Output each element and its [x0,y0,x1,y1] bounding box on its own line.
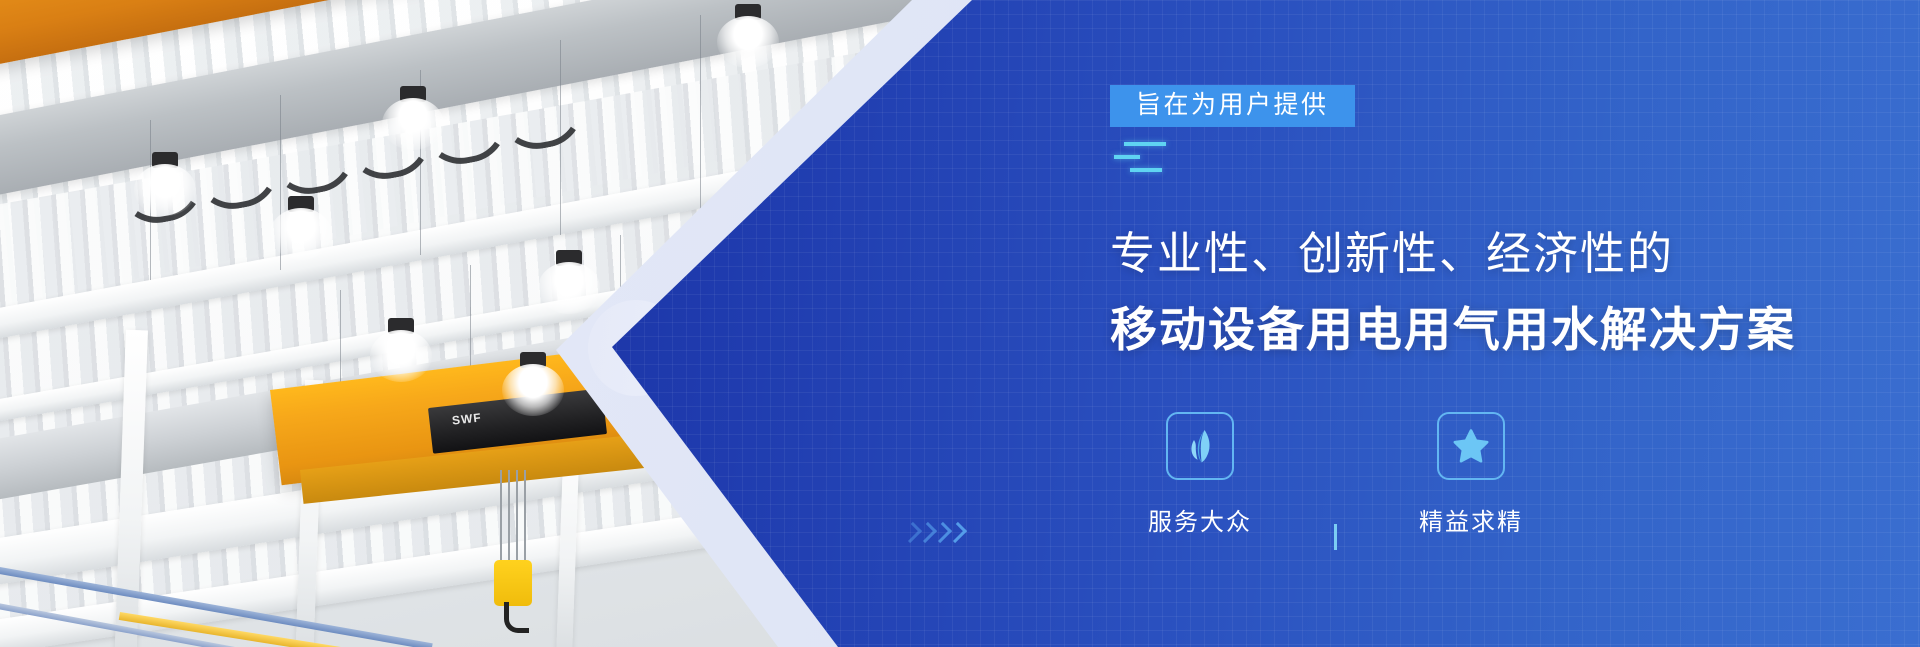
headline-line-1: 专业性、创新性、经济性的 [1110,225,1674,283]
decorative-line-short [1114,155,1140,159]
feature-label-service: 服务大众 [1148,502,1252,537]
feature-item-excellence[interactable]: 精益求精 [1383,412,1559,537]
feature-separator [1334,524,1337,550]
leaf-icon-box [1166,412,1234,480]
tagline-badge: 旨在为用户提供 [1110,85,1355,127]
leaf-icon [1180,426,1220,466]
star-icon [1452,427,1490,465]
feature-label-excellence: 精益求精 [1419,502,1523,537]
hero-banner: SWF [0,0,1920,647]
feature-item-service[interactable]: 服务大众 [1112,412,1288,537]
decorative-line-long [1124,142,1166,146]
banner-content: 旨在为用户提供 专业性、创新性、经济性的 移动设备用电用气用水解决方案 [1110,0,1920,647]
headline-line-2: 移动设备用电用气用水解决方案 [1110,300,1796,360]
decorative-lines [1114,142,1174,172]
chevron-arrows [905,524,963,541]
star-icon-box [1437,412,1505,480]
feature-list: 服务大众 精益求精 [1112,412,1559,550]
decorative-line-medium [1130,168,1162,172]
